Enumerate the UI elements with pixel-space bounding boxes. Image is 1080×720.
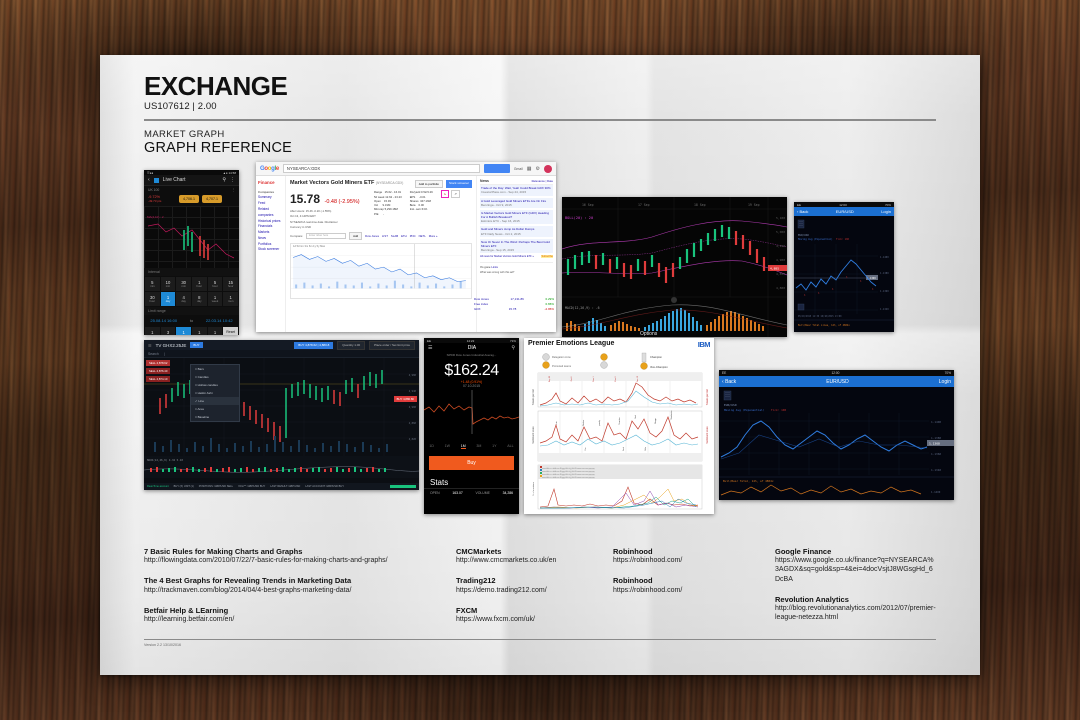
reference-title: Betfair Help & LEarning (144, 606, 444, 615)
screenshot-fxcm-landscape[interactable]: EE 12:00 70% ‹ Back EUR/USD Login EUR/US… (719, 370, 954, 500)
version-label: Version 2.2 13/10/2016 (144, 643, 936, 647)
sell-order-pill-3[interactable]: SELL 4,874.10 (146, 376, 170, 382)
range-3m[interactable]: 3M (476, 444, 481, 449)
quantity-button[interactable]: Quantity 1.00 (337, 341, 365, 350)
gmail-link[interactable]: Gmail (514, 167, 523, 171)
svg-text:Moving Avg (Exponential): Moving Avg (Exponential) (798, 238, 833, 241)
reference-url[interactable]: https://robinhood.com/ (613, 586, 763, 595)
back-button[interactable]: ‹ Back (797, 209, 808, 214)
carrier-label: EE (427, 339, 431, 343)
svg-text:Chelsea: Chelsea (583, 420, 585, 426)
screenshot-trading212-platform[interactable]: ☰ TV GHX2.25JE BUY BUY 4,878.62 | 4,880.… (144, 340, 419, 490)
svg-text:Relegation zone: Relegation zone (552, 355, 571, 359)
live-chart-title: Live Chart (163, 177, 219, 183)
instrument-label: UK 100 (148, 188, 159, 192)
status-item: BUY (X) UNIT (1) (174, 485, 194, 488)
stat-row: Range 15.62 - 16.01 (374, 190, 402, 194)
section-label-big: GRAPH REFERENCE (144, 140, 936, 157)
compare-chip[interactable]: SLAB (391, 234, 398, 238)
svg-text:penalty: penalty (598, 420, 601, 426)
interval-button[interactable]: 10min (161, 277, 176, 291)
overflow-menu-icon-2[interactable]: ⋮ (232, 188, 235, 192)
svg-text:4,950: 4,950 (776, 244, 785, 248)
references-column-2: CMCMarkets http://www.cmcmarkets.co.uk/e… (456, 547, 601, 635)
references-column-4: Google Finance https://www.google.co.uk/… (775, 547, 936, 635)
compare-chip[interactable]: PNC (410, 234, 416, 238)
status-item: POSITIONS: GBP/USD SELL (199, 485, 233, 488)
search-icon[interactable]: ⚲ (222, 177, 226, 183)
sidebar-link[interactable]: Related companies (258, 207, 283, 219)
range-to[interactable]: 22.03.14 10:42 (206, 318, 233, 323)
news-item[interactable]: Is Market Vectors Gold Miners ETF (GDX) … (480, 210, 553, 225)
svg-text:4,900: 4,900 (776, 258, 785, 262)
hamburger-menu-icon[interactable]: ☰ (428, 345, 432, 351)
t212-status-bar: Real-Time account BUY (X) UNIT (1) POSIT… (144, 483, 419, 490)
range-1w[interactable]: 1W (445, 444, 450, 449)
reference-title: Revolution Analytics (775, 595, 936, 604)
svg-text:Manchester: Manchester (670, 410, 673, 419)
svg-text:Nov 1: Nov 1 (593, 376, 595, 382)
svg-text:BOLL(20) : 20: BOLL(20) : 20 (565, 216, 593, 220)
svg-text:5,100: 5,100 (776, 216, 785, 220)
news-item[interactable]: Trade of the Day: Wait, Yeah Could Break… (480, 185, 553, 195)
reference-url[interactable]: http://trackmaven.com/blog/2014/04/4-bes… (144, 586, 444, 595)
live-chart-navbar: ‹ Live Chart ⚲ ⋮ (144, 175, 239, 186)
svg-text:Sep 20: Sep 20 (549, 375, 551, 382)
svg-text:MACD(12,26,9) 4.32 5.10: MACD(12,26,9) 4.32 5.10 (147, 458, 183, 462)
svg-text:aaaaa bbbb cccc dddd eeee ffff: aaaaa bbbb cccc dddd eeee ffff gggg hhhh… (542, 477, 595, 479)
ibm-logo: IBM (698, 340, 710, 349)
references-grid: 7 Basic Rules for Making Charts and Grap… (144, 547, 936, 635)
quote-stats-col1: Range 15.62 - 16.01 52 week 12.62 - 23.2… (374, 190, 402, 229)
svg-text:Luis: Luis (556, 421, 558, 424)
range-all[interactable]: ALL (507, 444, 513, 449)
svg-text:Tweets per min: Tweets per min (532, 388, 535, 405)
interval-button[interactable]: 4day (176, 292, 191, 306)
reference-entry[interactable]: CMCMarkets http://www.cmcmarkets.co.uk/e… (456, 547, 601, 565)
screenshot-live-chart-app[interactable]: ☰●●▲● 14:58 ‹ Live Chart ⚲ ⋮ UK 100 ⋮ -9… (144, 170, 239, 335)
reference-url[interactable]: https://robinhood.com/ (613, 556, 763, 565)
candlestick-caption: Options (640, 331, 657, 337)
range-section-label: Limit range (144, 307, 239, 315)
compare-chip[interactable]: ETH (401, 234, 407, 238)
company-name: SPDR Dow Jones Industrial Averag... (424, 353, 519, 357)
reference-title: The 4 Best Graphs for Revealing Trends i… (144, 576, 444, 585)
status-item: VOL/**: GBP/USD BUY (238, 485, 265, 488)
range-to-word: to (190, 318, 193, 323)
svg-text:MA(4,10) : 2: MA(4,10) : 2 (147, 215, 164, 219)
stat-row: P/E - (374, 212, 402, 216)
quote-stats-col2: Div/yield 0.52/3.29 EPS -0.01 Shares 347… (410, 190, 433, 229)
stock-screener-button[interactable]: Stock screener (446, 180, 472, 188)
connection-strength-bar (390, 485, 416, 488)
document-code: US107612 | 2.00 (144, 101, 936, 112)
back-button[interactable]: ‹ Back (722, 379, 736, 385)
search-icon[interactable]: ⚲ (511, 345, 515, 351)
menu-item[interactable]: □ Heikin Ashi (191, 389, 239, 397)
t212-toolbar[interactable]: Search | (144, 350, 419, 358)
clock-label: 14:22 (467, 339, 475, 343)
price-chart[interactable]: 1d 5d 1m 3m 6m 1y 5y Max (290, 243, 472, 299)
menu-item-selected[interactable]: ✓ Line (191, 397, 239, 405)
reference-url[interactable]: http://flowingdata.com/2010/07/22/7-basi… (144, 556, 444, 565)
footer-divider (144, 639, 936, 640)
page-title: EXCHANGE (144, 73, 936, 99)
svg-text:Goal: Goal (635, 415, 637, 419)
news-item[interactable]: Gold and Miners Jump As Dollar DumpsETF … (480, 226, 553, 236)
finance-nav-title: Finance (258, 179, 283, 187)
related-link[interactable]: Links (491, 265, 498, 269)
quote-change: -0.48 (-2.95%) (324, 199, 359, 205)
interval-button[interactable]: 15hour (223, 277, 238, 291)
svg-text:16 Sep: 16 Sep (582, 203, 594, 207)
reference-url[interactable]: https://www.fxcm.com/uk/ (456, 615, 601, 624)
svg-text:1.1380: 1.1380 (880, 272, 889, 275)
svg-text:4,820: 4,820 (409, 438, 417, 441)
interval-button[interactable]: 30hour (145, 292, 160, 306)
fxcm-navbar: ‹ Back EUR/USD Login (794, 207, 894, 216)
svg-text:Sentiment score: Sentiment score (706, 426, 709, 444)
reference-url[interactable]: http://www.cmcmarkets.co.uk/en (456, 556, 601, 565)
reference-entry[interactable]: Robinhood https://robinhood.com/ (613, 576, 763, 594)
svg-text:Promoted teams: Promoted teams (552, 364, 572, 368)
sell-order-pill-2[interactable]: SELL 4,876.40 (146, 368, 170, 374)
svg-text:Vice-Champion: Vice-Champion (650, 365, 668, 369)
quote-timestamp: Oct 13, 4:14PM EDT (290, 214, 366, 218)
chart-title: Premier Emotions League (528, 340, 614, 347)
t212-chart[interactable]: MACD(12,26,9) 4.32 5.10 (144, 358, 419, 490)
svg-text:Sentiment score: Sentiment score (532, 426, 535, 444)
svg-text:Tick: 100: Tick: 100 (771, 408, 786, 412)
menu-icon[interactable]: ☰ (148, 343, 152, 348)
back-icon[interactable]: ‹ (148, 177, 150, 183)
svg-text:1.1400: 1.1400 (880, 256, 889, 259)
svg-text:Rafa: Rafa (645, 447, 647, 451)
svg-text:05/10/2015 11:30 10/10/201: 05/10/2015 11:30 10/10/2015 13:00 (798, 315, 842, 318)
svg-text:19 Sep: 19 Sep (748, 203, 760, 207)
interval-section-label: Interval (144, 268, 239, 276)
svg-text:Tick: 100: Tick: 100 (836, 238, 850, 241)
buy-button[interactable]: Buy (429, 456, 514, 470)
screenshot-premier-emotions-league[interactable]: Premier Emotions League IBM Relegation z… (524, 338, 714, 514)
current-price: $162.24 (424, 362, 519, 380)
finance-sidebar[interactable]: Finance Companies Summary Feed Related c… (256, 176, 286, 332)
references-column-1: 7 Basic Rules for Making Charts and Grap… (144, 547, 444, 635)
printed-reference-sheet: EXCHANGE US107612 | 2.00 MARKET GRAPH GR… (100, 55, 980, 675)
menu-item[interactable]: □ Bars (191, 365, 239, 373)
svg-text:Tweets per min: Tweets per min (706, 388, 709, 405)
range-button-selected[interactable]: 1week (176, 327, 191, 336)
news-more-link[interactable]: All news for Market Vectors Gold Miners … (480, 255, 534, 258)
reference-entry[interactable]: 7 Basic Rules for Making Charts and Grap… (144, 547, 444, 565)
app-icon (154, 178, 159, 183)
svg-text:Bull/Bear Total, 14%, of 4804x: Bull/Bear Total, 14%, of 4804x (723, 479, 774, 483)
interval-button[interactable]: 1week (208, 292, 223, 306)
apps-grid-icon[interactable]: ▦ (527, 166, 532, 172)
share-button[interactable]: ↗ (451, 190, 460, 198)
social-button[interactable]: f+ (441, 190, 450, 198)
rh-navbar: ☰ DIA ⚲ (424, 343, 519, 353)
svg-text:Mourinho: Mourinho (618, 418, 621, 425)
reference-title: 7 Basic Rules for Making Charts and Grap… (144, 547, 444, 556)
screenshot-collage: ☰●●▲● 14:58 ‹ Live Chart ⚲ ⋮ UK 100 ⋮ -9… (144, 162, 936, 542)
status-item: Real-Time account (147, 485, 169, 488)
chart-type-dropdown[interactable]: □ Bars □ Candles □ Hollow candles □ Heik… (190, 364, 240, 422)
news-sort-relevance[interactable]: Relevance | Date (532, 179, 553, 183)
reference-entry[interactable]: Trading212 https://demo.trading212.com/ (456, 576, 601, 594)
carrier-label: EE (797, 203, 801, 207)
last-price-tag: 4,885 (770, 267, 779, 271)
svg-text:aaaaa bbbb cccc dddd eeee ffff: aaaaa bbbb cccc dddd eeee ffff gggg hhhh… (542, 471, 595, 473)
svg-text:1.1400: 1.1400 (931, 490, 941, 494)
compare-chip[interactable]: NETL (419, 234, 426, 238)
svg-text:1.1360: 1.1360 (880, 290, 889, 293)
change-absolute: -49.73 pts (148, 199, 176, 203)
svg-text:Moving Avg (Exponential): Moving Avg (Exponential) (724, 408, 765, 412)
instrument-badge: BUY (190, 342, 202, 348)
range-button[interactable]: 1year (208, 327, 223, 336)
svg-text:1.1368: 1.1368 (929, 442, 940, 446)
ticker-label: DIA (468, 345, 476, 351)
login-button[interactable]: Login (939, 379, 951, 385)
reference-title: Google Finance (775, 547, 936, 556)
compare-chip[interactable]: LIST (382, 234, 388, 238)
section-label-small: MARKET GRAPH (144, 129, 936, 140)
ask-price-button[interactable]: 4,707.1 (202, 195, 222, 203)
google-logo: Google (260, 166, 279, 172)
references-column-3: Robinhood https://robinhood.com/ Robinho… (613, 547, 763, 635)
menu-item[interactable]: □ Candles (191, 373, 239, 381)
quote-price: 15.78 (290, 192, 320, 206)
reference-title: Trading212 (456, 576, 601, 585)
range-1d[interactable]: 1D (429, 444, 434, 449)
svg-text:Champion: Champion (650, 355, 662, 359)
svg-text:1.1340: 1.1340 (931, 468, 941, 472)
bid-price-button[interactable]: 4,706.1 (179, 195, 199, 203)
menu-item[interactable]: □ Baseline (191, 413, 239, 421)
quote-disclaimer: NYSEARCA real-time data. Disclaimer (290, 220, 366, 224)
chart-range-tabs[interactable]: 1d 5d 1m 3m 6m 1y 5y Max (293, 245, 325, 248)
t212-topbar: ☰ TV GHX2.25JE BUY BUY 4,878.62 | 4,880.… (144, 340, 419, 350)
fxcm-landscape-chart[interactable]: EUR/USD Moving Avg (Exponential) Tick: 1… (719, 387, 954, 500)
stat-row: OPEN163.07VOLUME34,286 (424, 488, 519, 497)
sell-order-pill[interactable]: SELL 4,878.62 (146, 360, 170, 366)
sidebar-link[interactable]: Stock screener (258, 247, 283, 253)
compare-input[interactable]: Enter ticker here (306, 233, 346, 239)
svg-text:MACD(12,26,9) : -6: MACD(12,26,9) : -6 (565, 306, 600, 310)
overflow-menu-icon[interactable]: ⋮ (230, 177, 235, 183)
reference-entry[interactable]: Betfair Help & LEarning http://learning.… (144, 606, 444, 624)
svg-text:4,980: 4,980 (409, 374, 417, 377)
navbar-title: EUR/USD (836, 209, 854, 214)
svg-text:5,000: 5,000 (776, 230, 785, 234)
svg-text:Bull/Bear Total Lines, 14%, of: Bull/Bear Total Lines, 14%, of 4804x (798, 324, 850, 327)
screenshot-candlestick-boll-chart[interactable]: 16 Sep17 Sep 18 Sep19 Sep BOLL(20) : 20 (562, 197, 787, 337)
reference-url[interactable]: http://learning.betfair.com/en/ (144, 615, 444, 624)
reference-entry[interactable]: Google Finance https://www.google.co.uk/… (775, 547, 936, 584)
clock-label: 12:00 (839, 203, 847, 207)
reference-entry[interactable]: Robinhood https://robinhood.com/ (613, 547, 763, 565)
interval-button-grid[interactable]: 5min 10min 30min 1hour 5hour 15hour 30ho… (144, 276, 239, 306)
battery-label: 70% (885, 203, 891, 207)
date-range-row[interactable]: 25.08.14 16:00 to 22.03.14 10:42 (144, 315, 239, 326)
reference-url[interactable]: http://blog.revolutionanalytics.com/2012… (775, 604, 936, 622)
news-item[interactable]: Now Or Never In The Wind: Perhaps The Be… (480, 239, 553, 254)
feedback-text: What was wrong with this ad? (480, 271, 553, 274)
reference-entry[interactable]: The 4 Best Graphs for Revealing Trends i… (144, 576, 444, 594)
candlestick-series: MA(4,10) : 2 (144, 206, 239, 268)
search-input[interactable]: NYSEARCA:GDX (283, 164, 480, 173)
svg-text:1.1340: 1.1340 (880, 308, 889, 311)
quote-currency: Currency in USD (290, 225, 366, 229)
svg-text:18 Sep: 18 Sep (694, 203, 706, 207)
svg-text:4,940: 4,940 (409, 390, 417, 393)
svg-text:4,900: 4,900 (409, 406, 417, 409)
menu-item[interactable]: □ Area (191, 405, 239, 413)
svg-text:Dec 6: Dec 6 (615, 376, 617, 382)
interval-button[interactable]: 5hour (208, 277, 223, 291)
reset-button[interactable]: Reset (223, 327, 238, 336)
emotions-multipanel-chart: Relegation zone Promoted teams Champion … (524, 349, 714, 511)
add-to-portfolio-button[interactable]: Add to portfolio (415, 180, 443, 188)
reference-url[interactable]: https://demo.trading212.com/ (456, 586, 601, 595)
references-section: 7 Basic Rules for Making Charts and Grap… (144, 547, 936, 647)
reference-entry[interactable]: Revolution Analytics http://blog.revolut… (775, 595, 936, 623)
chart-svg (291, 244, 471, 298)
instrument-title: Market Vectors Gold Miners ETF (NYSEARCA… (290, 180, 403, 186)
svg-text:EUR/USD: EUR/USD (798, 233, 809, 237)
instrument-label: TV GHX2.25JE (156, 343, 187, 348)
fxcm-line-chart[interactable]: EUR/USD Moving Avg (Exponential) Tick: 1… (794, 216, 894, 328)
svg-text:1.1380: 1.1380 (931, 436, 941, 440)
interval-button[interactable]: 5min (145, 277, 160, 291)
compare-label: Compare: (290, 234, 303, 238)
fxcm-navbar: ‹ Back EUR/USD Login (719, 376, 954, 387)
interval-button-selected[interactable]: 1day (161, 292, 176, 306)
svg-text:4,860: 4,860 (409, 422, 417, 425)
buy-order-pill[interactable]: BUY 4,880.80 (394, 396, 417, 402)
navbar-title: EUR/USD (826, 379, 849, 385)
interval-button[interactable]: 8day (192, 292, 207, 306)
svg-text:aaaaa bbbb cccc dddd eeee ffff: aaaaa bbbb cccc dddd eeee ffff gggg hhhh… (542, 468, 595, 470)
svg-text:Sack: Sack (623, 447, 625, 451)
range-1m-selected[interactable]: 1M (461, 444, 466, 449)
search-button[interactable] (484, 164, 510, 173)
interval-button[interactable]: 30min (176, 277, 191, 291)
svg-text:1.1400: 1.1400 (931, 420, 941, 424)
news-header: News (480, 179, 489, 183)
reference-title: CMCMarkets (456, 547, 601, 556)
reference-title: FXCM (456, 606, 601, 615)
svg-text:4,850: 4,850 (776, 272, 785, 276)
screenshot-robinhood-app[interactable]: EE 14:22 71% ☰ DIA ⚲ SPDR Dow Jones Indu… (424, 338, 519, 514)
svg-text:Wenger: Wenger (654, 418, 657, 424)
range-button[interactable]: 3day (161, 327, 176, 336)
svg-text:Fire: Fire (584, 448, 587, 451)
range-from[interactable]: 25.08.14 16:00 (150, 318, 177, 323)
range-button[interactable]: 1day (145, 327, 160, 336)
rh-price-chart[interactable] (424, 388, 519, 436)
battery-label: 71% (510, 339, 516, 343)
screenshot-fxcm-portrait[interactable]: EE 12:00 70% ‹ Back EUR/USD Login EUR/US… (794, 202, 894, 332)
compare-add-button[interactable]: Add (349, 232, 362, 240)
reference-title: Robinhood (613, 576, 763, 585)
login-button[interactable]: Login (881, 209, 891, 214)
avatar-icon[interactable] (544, 165, 552, 173)
reference-url[interactable]: https://www.google.co.uk/finance?q=NYSEA… (775, 556, 936, 583)
svg-text:% of mentions: % of mentions (532, 481, 535, 496)
place-order-button[interactable]: Place order / Set limit price (369, 341, 415, 350)
carrier-label: EE (722, 371, 726, 375)
gear-icon[interactable]: ⚙ (536, 166, 540, 172)
range-1y[interactable]: 1Y (492, 444, 496, 449)
stat-row: Div/yield 0.52/3.29 (410, 190, 433, 194)
range-button-grid[interactable]: 1day 3day 1week 1month 1year Reset (144, 326, 239, 336)
interval-button[interactable]: 1hour (192, 277, 207, 291)
range-button[interactable]: 1month (192, 327, 207, 336)
svg-text:17 Sep: 17 Sep (638, 203, 650, 207)
svg-text:1.1360: 1.1360 (931, 452, 941, 456)
reference-title: Robinhood (613, 547, 763, 556)
quote-afterhours: After Hours: 15.46 -0.20 (-1.55%) (290, 209, 366, 213)
boll-macd-chart: 16 Sep17 Sep 18 Sep19 Sep BOLL(20) : 20 (562, 197, 787, 337)
live-chart-canvas[interactable]: MA(4,10) : 2 (144, 206, 239, 268)
search-field[interactable]: Search (148, 352, 159, 356)
svg-text:aaaaa bbbb cccc dddd eeee ffff: aaaaa bbbb cccc dddd eeee ffff gggg hhhh… (542, 474, 595, 476)
related-label: It's gone (480, 265, 491, 269)
svg-text:EUR/USD: EUR/USD (724, 403, 737, 407)
buy-sell-button[interactable]: BUY 4,878.62 | 4,880.8 (294, 342, 333, 349)
screenshot-google-finance[interactable]: Google NYSEARCA:GDX Gmail ▦ ⚙ Finance Co… (256, 162, 556, 332)
stats-header: Stats (424, 474, 519, 488)
compare-chip[interactable]: Dow Jones (365, 234, 379, 238)
header-divider (144, 119, 936, 121)
compare-more[interactable]: More » (429, 234, 438, 238)
stat-row: Inst. own 61% (410, 207, 433, 211)
rh-range-tabs[interactable]: 1D 1W 1M 3M 1Y ALL (424, 441, 519, 452)
clock-label: 12:00 (831, 371, 839, 375)
reference-entry[interactable]: FXCM https://www.fxcm.com/uk/ (456, 606, 601, 624)
index-row[interactable]: GDX15.78-2.95% (474, 307, 554, 312)
document-header: EXCHANGE US107612 | 2.00 MARKET GRAPH GR… (144, 73, 936, 156)
status-item: LAST ACCOUNT: GBP/USD BUY (305, 485, 344, 488)
interval-button[interactable]: 1mon (223, 292, 238, 306)
status-item: LAST RESULT: GBP/USD (270, 485, 300, 488)
battery-label: 70% (945, 371, 951, 375)
svg-text:4,800: 4,800 (776, 286, 785, 290)
news-item[interactable]: A Gold Leveraged Gold Miners ETFs Are On… (480, 198, 553, 208)
live-chart-quote: -9.72% -49.73 pts 4,706.1 4,707.1 (144, 192, 239, 206)
subscribe-button[interactable]: Subscribe (541, 255, 553, 258)
google-top-bar: Google NYSEARCA:GDX Gmail ▦ ⚙ (256, 162, 556, 176)
svg-text:Jan 10: Jan 10 (637, 375, 639, 382)
menu-item[interactable]: □ Hollow candles (191, 381, 239, 389)
